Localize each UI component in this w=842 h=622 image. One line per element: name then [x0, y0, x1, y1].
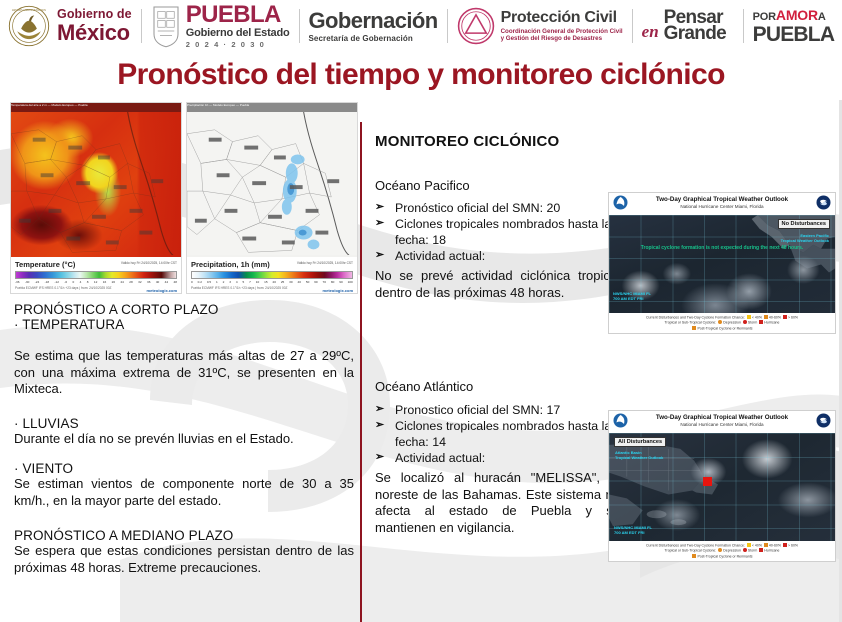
swatch-40-60-icon [764, 543, 768, 547]
colorbar-tick: 12 [94, 280, 97, 284]
colorbar-tick: 36 [147, 280, 150, 284]
colorbar-tick: 4 [236, 280, 238, 284]
arrow-bullet-icon: ➢ [375, 216, 384, 230]
temperature-map-brand: meteologix.com [147, 288, 177, 293]
swatch-40-60-icon [764, 315, 768, 319]
wind-block: · VIENTO Se estiman vientos de component… [14, 461, 354, 509]
colorbar-tick: 90 [339, 280, 342, 284]
arrow-bullet-icon: ➢ [375, 248, 384, 262]
nhc-atl-legend-l3: Post-Tropical Cyclone or Remnants [697, 555, 752, 559]
nhc-atlantic-subtitle: National Hurricane Center Miami, Florida [609, 422, 835, 427]
pacific-note: No se prevé actividad ciclónica tropical… [375, 268, 620, 301]
logo-gdm-line2: México [57, 22, 132, 44]
logo-gobierno-de-mexico: ESTADOS UNIDOS MEXICANOS Gobierno de Méx… [8, 3, 132, 49]
colorbar-tick: 44 [165, 280, 168, 284]
logo-puebla-gobierno-del-estado: PUEBLA Gobierno del Estado 2 0 2 4 · 2 0… [151, 3, 290, 49]
nhc-atl-l2-i1: Storm [748, 549, 757, 553]
pacific-bullet-list: ➢Pronóstico oficial del SMN: 20 ➢Ciclone… [375, 200, 615, 265]
list-item: ➢Ciclones tropicales nombrados hasta la … [375, 216, 615, 248]
colorbar-tick: -6 [64, 280, 67, 284]
logo-gobernacion-line1: Gobernación [309, 10, 438, 32]
symbol-post-tropical-icon [692, 326, 696, 330]
colorbar-tick: 15 [264, 280, 267, 284]
symbol-storm-icon [743, 320, 747, 324]
colorbar-tick: 20 [272, 280, 275, 284]
eagle-seal-icon: ESTADOS UNIDOS MEXICANOS [8, 5, 50, 47]
logo-divider-4 [632, 9, 633, 43]
colorbar-tick: 40 [156, 280, 159, 284]
medium-term-body: Se espera que estas condiciones persista… [14, 543, 354, 576]
short-term-body: Se estima que las temperaturas más altas… [14, 348, 354, 398]
symbol-hurricane-icon [759, 548, 763, 552]
precipitation-legend: Precipitation, 1h (mm) Válido hoy Fri 24… [187, 257, 357, 295]
nhc-pacific-title: Two-Day Graphical Tropical Weather Outlo… [609, 196, 835, 203]
nhc-atl-l2-i2: Hurricane [764, 549, 779, 553]
logo-gobernacion-line2: Secretaría de Gobernación [309, 35, 438, 43]
pacific-item-1: Ciclones tropicales nombrados hasta la f… [395, 217, 611, 247]
nhc-atlantic-outlook-graphic[interactable]: Two-Day Graphical Tropical Weather Outlo… [608, 410, 836, 562]
pap-line2: PUEBLA [753, 24, 835, 45]
nhc-atlantic-title: Two-Day Graphical Tropical Weather Outlo… [609, 414, 835, 421]
swatch-gt60-icon [783, 543, 787, 547]
colorbar-tick: -12 [55, 280, 59, 284]
wind-subheading: · VIENTO [14, 461, 354, 476]
list-item: ➢Pronostico oficial del SMN: 17 [375, 402, 615, 418]
nhc-atl-l1-i0: < 40% [752, 543, 762, 547]
rain-subheading: · LLUVIAS [14, 416, 354, 431]
pacific-item-2: Actividad actual: [395, 249, 485, 263]
logo-gobernacion: Gobernación Secretaría de Gobernación [309, 3, 438, 49]
logo-puebla-line3: 2 0 2 4 · 2 0 3 0 [186, 41, 290, 49]
colorbar-tick: -30 [25, 280, 29, 284]
colorbar-tick: 100 [348, 280, 353, 284]
colorbar-tick: 0.2 [198, 280, 202, 284]
colorbar-tick: 1 [216, 280, 218, 284]
monitoring-section-title: MONITOREO CICLÓNICO [375, 133, 559, 150]
logo-divider-2 [299, 9, 300, 43]
nhc-pac-legend-l2: Tropical or Sub-Tropical Cyclone: [665, 321, 717, 325]
pap-amor: AMOR [776, 7, 818, 23]
colorbar-tick: 70 [323, 280, 326, 284]
medium-term-forecast-block: PRONÓSTICO A MEDIANO PLAZO Se espera que… [14, 528, 354, 576]
colorbar-tick: 28 [129, 280, 132, 284]
nhc-atlantic-side-note: Atlantic Basin Tropical Weather Outlook [615, 450, 663, 460]
colorbar-tick: 10 [256, 280, 259, 284]
colorbar-tick: 5 [243, 280, 245, 284]
colorbar-tick: 24 [120, 280, 123, 284]
temperature-legend-date: Válido hoy Fri 24/10/2025, 14:00hr CST [121, 261, 177, 265]
logo-pc-line1: Protección Civil [501, 10, 623, 26]
nhc-atlantic-disturbance-tag: All Disturbances [614, 437, 666, 447]
nhc-pacific-outlook-graphic[interactable]: Two-Day Graphical Tropical Weather Outlo… [608, 192, 836, 334]
nhc-atl-legend-l2: Tropical or Sub-Tropical Cyclone: [665, 549, 717, 553]
nhc-pac-legend-l1: Current Disturbances and Two-Day Cyclone… [646, 315, 745, 319]
colorbar-tick: 30 [289, 280, 292, 284]
colorbar-tick: 20 [112, 280, 115, 284]
hurricane-marker-icon [703, 477, 712, 486]
logo-divider-5 [743, 9, 744, 43]
colorbar-tick: 2 [223, 280, 225, 284]
colorbar-tick: 48 [174, 280, 177, 284]
rain-block: · LLUVIAS Durante el día no se prevén ll… [14, 416, 354, 448]
temperature-legend: Temperature (°C) Válido hoy Fri 24/10/20… [11, 257, 181, 295]
colorbar-tick: 80 [331, 280, 334, 284]
nhc-pac-l1-i0: < 40% [752, 315, 762, 319]
nhc-atl-l1-i2: > 60% [788, 543, 798, 547]
logo-gdm-line1: Gobierno de [57, 8, 132, 21]
rain-body: Durante el día no se prevén lluvias en e… [14, 431, 354, 448]
symbol-storm-icon [743, 548, 747, 552]
nhc-atlantic-corner-note: NWS/NHC MIAMI FL 700 AM EDT FRI [614, 525, 652, 535]
short-term-subheading: · TEMPERATURA [14, 317, 354, 332]
column-divider [360, 122, 362, 622]
pacific-heading: Océano Pacifico [375, 178, 470, 193]
colorbar-tick: -18 [45, 280, 49, 284]
nhc-pac-l2-i2: Hurricane [764, 321, 779, 325]
precipitation-map-borders [187, 112, 357, 255]
arrow-bullet-icon: ➢ [375, 200, 384, 214]
peg-word-grande: Grande [664, 24, 726, 43]
colorbar-tick: 0 [191, 280, 193, 284]
colorbar-tick: 4 [80, 280, 82, 284]
nhc-atl-l2-i0: Depression [723, 549, 741, 553]
colorbar-tick: 40 [298, 280, 301, 284]
colorbar-tick: -24 [35, 280, 39, 284]
page-title: Pronóstico del tiempo y monitoreo ciclón… [0, 58, 842, 92]
puebla-shield-icon [151, 4, 181, 49]
precipitation-colorbar-ticks: 00.20.51234571015202530405060708090100 [191, 280, 353, 284]
arrow-bullet-icon: ➢ [375, 450, 384, 464]
nhc-pacific-disturbance-tag: No Disturbances [778, 219, 830, 229]
temperature-map-image [11, 112, 181, 257]
symbol-depression-icon [718, 320, 722, 324]
logo-puebla-line2: Gobierno del Estado [186, 28, 290, 39]
list-item: ➢Actividad actual: [375, 248, 615, 264]
atlantic-item-0: Pronostico oficial del SMN: 17 [395, 403, 560, 417]
nhc-pac-legend-l3: Post-Tropical Cyclone or Remnants [697, 327, 752, 331]
logo-pensar-en-grande: Pensar en Grande [642, 3, 734, 49]
swatch-gt60-icon [783, 315, 787, 319]
short-term-forecast-block: PRONÓSTICO A CORTO PLAZO · TEMPERATURA S… [14, 302, 354, 398]
precipitation-map-brand: meteologix.com [323, 288, 353, 293]
logo-puebla-line1: PUEBLA [186, 3, 290, 27]
peg-word-en: en [642, 23, 659, 40]
pap-pre: POR [753, 11, 776, 23]
short-term-heading: PRONÓSTICO A CORTO PLAZO [14, 302, 354, 317]
symbol-hurricane-icon [759, 320, 763, 324]
colorbar-tick: 25 [281, 280, 284, 284]
logo-divider-1 [141, 9, 142, 43]
symbol-post-tropical-icon [692, 554, 696, 558]
logo-proteccion-civil: Protección Civil Coordinación General de… [457, 3, 623, 49]
list-item: ➢Pronóstico oficial del SMN: 20 [375, 200, 615, 216]
precipitation-legend-date: Válido hoy Fri 24/10/2025, 14:00hr CST [297, 261, 353, 265]
logo-divider-3 [447, 9, 448, 43]
precipitation-map-header-strip: Precipitación 1h — Modelo Europeo — Pueb… [187, 103, 357, 112]
colorbar-tick: -36 [15, 280, 19, 284]
nhc-pacific-overlay-text: Tropical cyclone formation is not expect… [609, 245, 835, 252]
nhc-atl-legend-l1: Current Disturbances and Two-Day Cyclone… [646, 543, 745, 547]
nhc-pac-l2-i0: Depression [723, 321, 741, 325]
colorbar-tick: 0 [73, 280, 75, 284]
pacific-item-0: Pronóstico oficial del SMN: 20 [395, 201, 560, 215]
logo-por-amor-a-puebla: PORAMORA PUEBLA [753, 3, 835, 49]
colorbar-tick: 3 [229, 280, 231, 284]
arrow-bullet-icon: ➢ [375, 402, 384, 416]
nhc-atlantic-legend: Current Disturbances and Two-Day Cyclone… [609, 541, 835, 561]
colorbar-tick: 7 [249, 280, 251, 284]
logo-pc-line3: y Gestión del Riesgo de Desastres [501, 36, 623, 42]
atlantic-bullet-list: ➢Pronostico oficial del SMN: 17 ➢Ciclone… [375, 402, 615, 467]
nhc-pac-l2-i1: Storm [748, 321, 757, 325]
swatch-lt40-icon [747, 315, 751, 319]
precipitation-map-image [187, 112, 357, 257]
nhc-pacific-satellite-map: Tropical cyclone formation is not expect… [609, 215, 835, 313]
nhc-pac-l1-i1: 40-60% [769, 315, 781, 319]
wind-body: Se estiman vientos de componente norte d… [14, 476, 354, 509]
colorbar-tick: 16 [103, 280, 106, 284]
precipitation-map-card[interactable]: Precipitación 1h — Modelo Europeo — Pueb… [186, 102, 358, 294]
colorbar-tick: 32 [138, 280, 141, 284]
nhc-pacific-legend: Current Disturbances and Two-Day Cyclone… [609, 313, 835, 333]
nhc-pac-l1-i2: > 60% [788, 315, 798, 319]
nhc-pacific-side-note: Eastern Pacific Tropical Weather Outlook [781, 233, 829, 243]
atlantic-item-2: Actividad actual: [395, 451, 485, 465]
nhc-pacific-subtitle: National Hurricane Center Miami, Florida [609, 204, 835, 209]
medium-term-heading: PRONÓSTICO A MEDIANO PLAZO [14, 528, 354, 543]
nhc-atl-l1-i1: 40-60% [769, 543, 781, 547]
list-item: ➢Actividad actual: [375, 450, 615, 466]
colorbar-tick: 8 [87, 280, 89, 284]
nhc-pacific-corner-note: NWS/NHC MIAMI FL 700 AM EDT FRI [613, 291, 651, 301]
svg-text:ESTADOS UNIDOS MEXICANOS: ESTADOS UNIDOS MEXICANOS [12, 9, 46, 12]
symbol-depression-icon [718, 548, 722, 552]
swatch-lt40-icon [747, 543, 751, 547]
pap-post: A [818, 11, 826, 23]
atlantic-item-1: Ciclones tropicales nombrados hasta la f… [395, 419, 611, 449]
nhc-atlantic-header: Two-Day Graphical Tropical Weather Outlo… [609, 411, 835, 433]
atlantic-note: Se localizó al huracán "MELISSA", al nor… [375, 470, 620, 537]
header-logo-bar: ESTADOS UNIDOS MEXICANOS Gobierno de Méx… [0, 0, 842, 52]
temperature-colorbar-ticks: -36-30-24-18-12-604812162024283236404448 [15, 280, 177, 284]
colorbar-tick: 60 [314, 280, 317, 284]
temperature-colorbar [15, 271, 177, 279]
colorbar-tick: 50 [306, 280, 309, 284]
temperature-map-header-strip: Temperatura del aire a 2 m — Modelo Euro… [11, 103, 181, 112]
nhc-pacific-header: Two-Day Graphical Tropical Weather Outlo… [609, 193, 835, 215]
arrow-bullet-icon: ➢ [375, 418, 384, 432]
nhc-atlantic-satellite-map: Atlantic Basin Tropical Weather Outlook … [609, 433, 835, 541]
precipitation-colorbar [191, 271, 353, 279]
temperature-map-borders [11, 112, 181, 255]
temperature-map-card[interactable]: Temperatura del aire a 2 m — Modelo Euro… [10, 102, 182, 294]
proteccion-civil-triangle-icon [457, 7, 495, 45]
atlantic-heading: Océano Atlántico [375, 379, 473, 394]
colorbar-tick: 0.5 [207, 280, 211, 284]
list-item: ➢Ciclones tropicales nombrados hasta la … [375, 418, 615, 450]
